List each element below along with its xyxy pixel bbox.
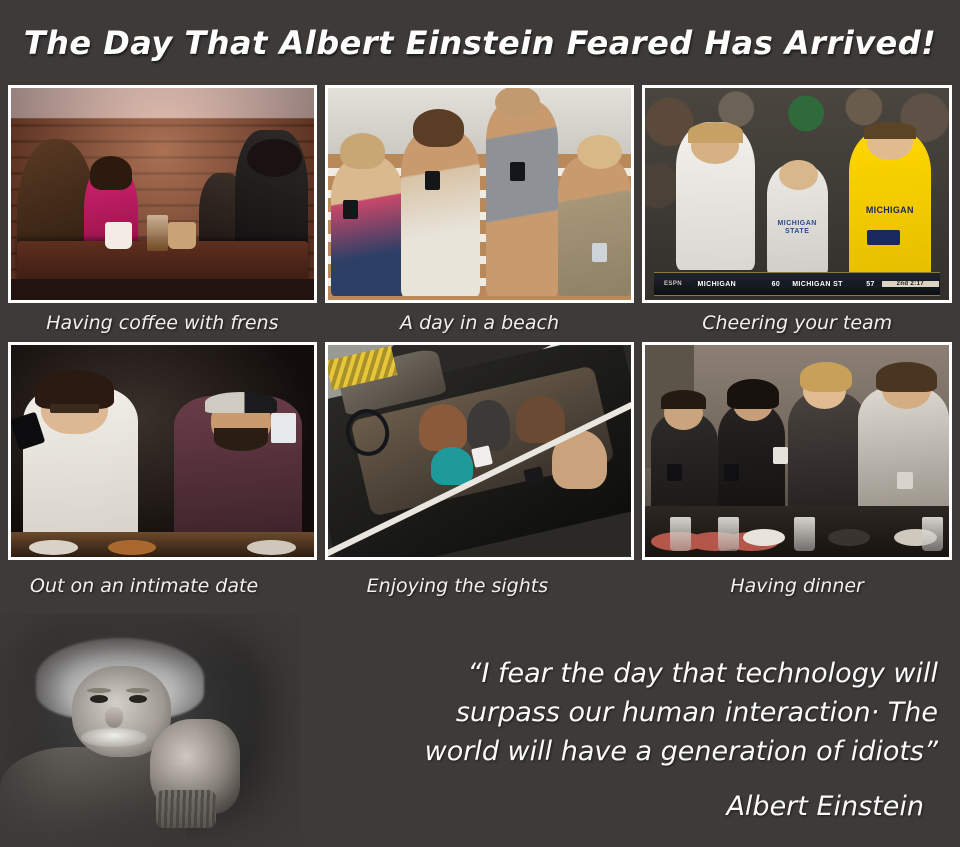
title-bar: The Day That Albert Einstein Feared Has … — [0, 0, 960, 85]
passenger-figure — [516, 396, 565, 443]
photo-stadium-crowd: MICHIGANSTATE MICHIGAN ESPN MICHIGAN 60 … — [645, 88, 949, 300]
panel-out-on-an-intimate-date: Out on an intimate date — [8, 342, 317, 612]
photo-coffee-shop — [11, 88, 314, 300]
page-title: The Day That Albert Einstein Feared Has … — [24, 24, 937, 62]
coffee-cup — [168, 222, 195, 250]
person-head — [577, 135, 623, 169]
photo-dark-restaurant-couple — [11, 345, 314, 557]
panel-a-day-in-a-beach: A day in a beach — [325, 85, 635, 342]
panel-caption-4: Out on an intimate date — [8, 560, 317, 612]
portrait-vignette — [0, 614, 300, 847]
quote-line-2: surpass our human interaction· The — [310, 693, 938, 732]
shirt-text: MICHIGANSTATE — [770, 220, 825, 236]
person-hair — [876, 362, 937, 392]
photo-beach-steps — [328, 88, 632, 300]
photo-grid: Having coffee with frens — [0, 85, 960, 612]
scoreboard-away-team: MICHIGAN ST — [792, 281, 843, 288]
mobile-phone — [425, 171, 440, 190]
quote-line-1: “I fear the day that technology will — [310, 654, 938, 693]
person-hair — [864, 122, 916, 139]
photo-frame-4 — [8, 342, 317, 560]
eyeglasses — [50, 404, 98, 412]
hoodie-text: MICHIGAN — [852, 205, 928, 215]
person-hair — [727, 379, 779, 409]
einstein-portrait — [0, 614, 300, 847]
plate — [247, 540, 295, 555]
photo-grid-row-1: Having coffee with frens — [8, 85, 952, 342]
iced-drink-glass — [147, 215, 168, 251]
panel-cheering-your-team: MICHIGANSTATE MICHIGAN ESPN MICHIGAN 60 … — [642, 85, 952, 342]
panel-having-dinner: Having dinner — [642, 342, 952, 612]
panel-caption-2: A day in a beach — [325, 303, 635, 342]
broadcast-scoreboard: ESPN MICHIGAN 60 MICHIGAN ST 57 2nd 2:17 — [654, 272, 939, 295]
photo-frame-5 — [325, 342, 635, 560]
person-head — [90, 156, 132, 190]
scoreboard-home-team: MICHIGAN — [698, 281, 737, 288]
drinking-glass — [922, 517, 943, 551]
mobile-phone — [667, 464, 682, 481]
portrait-image — [0, 614, 300, 847]
photo-dinner-table — [645, 345, 949, 557]
person-hair — [688, 122, 743, 143]
quote-attribution: Albert Einstein — [310, 791, 938, 822]
mobile-phone — [510, 162, 525, 181]
person-figure — [558, 156, 631, 296]
beard — [214, 428, 268, 451]
floor — [11, 279, 314, 300]
coffee-mug — [105, 222, 132, 250]
panel-having-coffee-with-frens: Having coffee with frens — [8, 85, 317, 342]
mobile-phone — [343, 200, 358, 219]
person-hair — [661, 390, 707, 409]
panel-caption-1: Having coffee with frens — [8, 303, 317, 342]
person-figure — [401, 130, 480, 295]
scoreboard-home-score: 60 — [772, 281, 781, 288]
drinking-glass — [718, 517, 739, 551]
baseball-cap — [205, 392, 278, 413]
quote-line-3: world will have a generation of idiots” — [310, 732, 938, 771]
scoreboard-period: 2nd 2:17 — [882, 281, 939, 287]
mobile-phone — [897, 472, 912, 489]
panel-enjoying-the-sights: Enjoying the sights — [325, 342, 635, 612]
mobile-phone — [724, 464, 739, 481]
plate — [108, 540, 156, 555]
person-hair — [35, 370, 114, 408]
panel-caption-3: Cheering your team — [642, 303, 952, 342]
photo-frame-2 — [325, 85, 635, 303]
person-head — [340, 133, 386, 169]
scoreboard-away: MICHIGAN ST 57 — [787, 281, 880, 288]
passenger-figure — [467, 400, 510, 451]
scoreboard-away-score: 57 — [866, 281, 875, 288]
person-hair — [800, 362, 852, 392]
person-head — [779, 160, 818, 190]
person-figure — [331, 156, 404, 296]
mobile-phone — [773, 447, 788, 464]
quote-section: “I fear the day that technology will sur… — [0, 612, 960, 847]
passenger-figure — [419, 404, 468, 451]
panel-caption-5: Enjoying the sights — [325, 560, 635, 612]
drinking-glass — [794, 517, 815, 551]
drinking-glass — [670, 517, 691, 551]
mobile-phone — [271, 413, 295, 443]
person-head — [413, 109, 465, 147]
person-head — [247, 139, 301, 177]
mobile-phone — [592, 243, 607, 262]
person-head — [495, 88, 541, 118]
photo-convertible-car — [328, 345, 632, 557]
passenger-figure — [431, 447, 474, 485]
photo-frame-6 — [642, 342, 952, 560]
photo-frame-1 — [8, 85, 317, 303]
plate — [29, 540, 77, 555]
network-logo: ESPN — [654, 281, 691, 287]
photo-grid-row-2: Out on an intimate date — [8, 342, 952, 612]
scoreboard-home: MICHIGAN 60 — [693, 281, 786, 288]
person-figure — [486, 101, 559, 296]
mobile-phone — [867, 230, 900, 245]
person-figure — [788, 392, 867, 511]
panel-caption-6: Having dinner — [642, 560, 952, 612]
einstein-quote: “I fear the day that technology will sur… — [310, 654, 950, 822]
photo-frame-3: MICHIGANSTATE MICHIGAN ESPN MICHIGAN 60 … — [642, 85, 952, 303]
